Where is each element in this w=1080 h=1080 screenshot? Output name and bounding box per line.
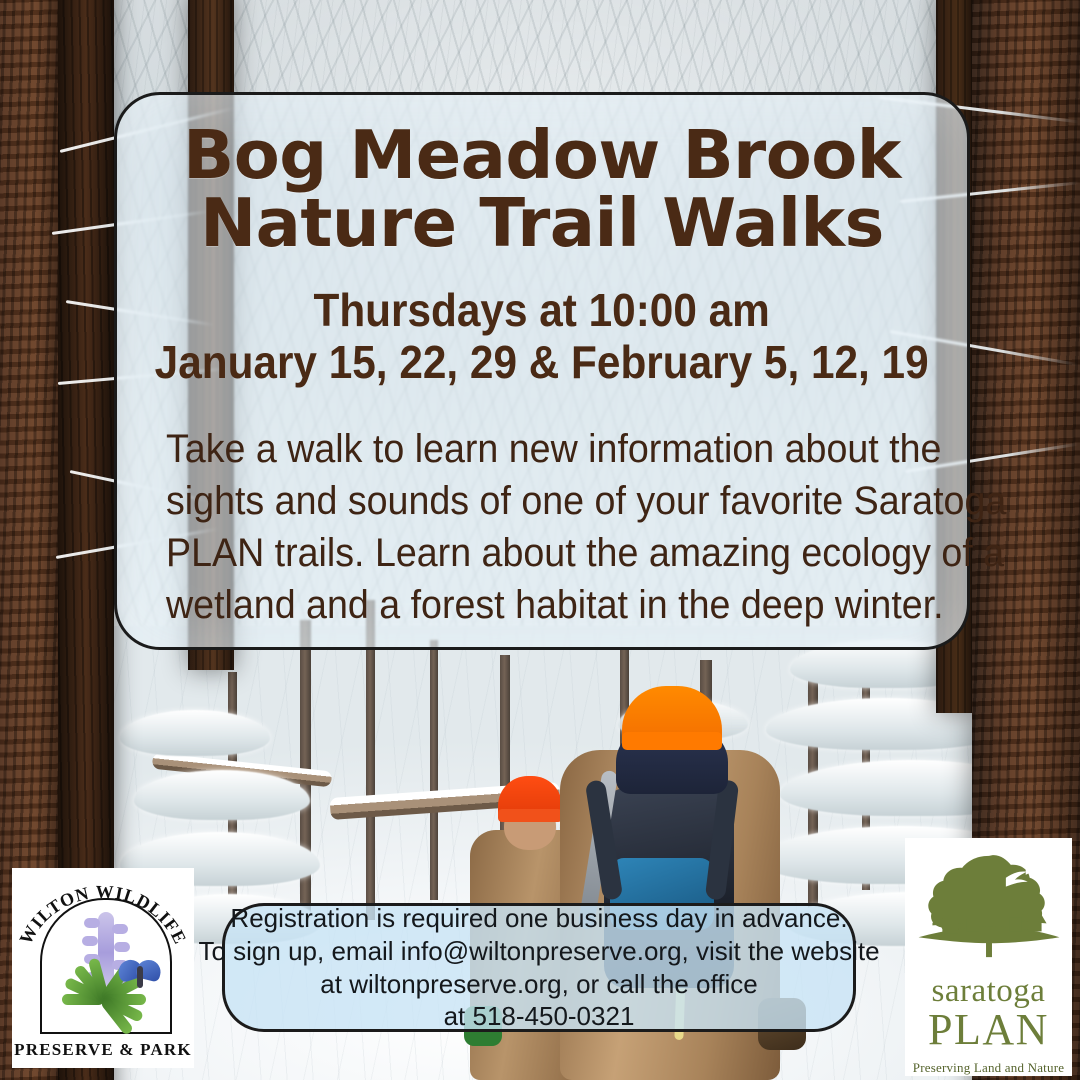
plan-logo-tagline: Preserving Land and Nature [913, 1060, 1064, 1076]
registration-line-3[interactable]: at wiltonpreserve.org, or call the offic… [320, 968, 757, 1001]
registration-line-1: Registration is required one business da… [230, 902, 847, 935]
registration-info-box: Registration is required one business da… [222, 903, 856, 1032]
description-line-2: sights and sounds of one of your favorit… [166, 475, 918, 527]
registration-line-2[interactable]: To sign up, email info@wiltonpreserve.or… [198, 935, 879, 968]
plan-logo-word-plan: PLAN [928, 1008, 1049, 1052]
wilton-bottom-label: PRESERVE & PARK [12, 1040, 194, 1060]
schedule-time: Thursdays at 10:00 am [155, 284, 929, 336]
oak-tree-icon [914, 846, 1064, 973]
plan-logo-word-saratoga: saratoga [932, 975, 1046, 1008]
event-schedule: Thursdays at 10:00 am January 15, 22, 29… [155, 284, 929, 389]
karner-blue-butterfly-icon [118, 960, 162, 994]
event-description: Take a walk to learn new information abo… [166, 423, 918, 631]
registration-line-4[interactable]: at 518-450-0321 [444, 1000, 635, 1033]
description-line-1: Take a walk to learn new information abo… [166, 423, 918, 475]
lupine-flower-icon [56, 912, 156, 1028]
title-line-2: Nature Trail Walks [183, 189, 901, 257]
event-flyer: Bog Meadow Brook Nature Trail Walks Thur… [0, 0, 1080, 1080]
description-line-3: PLAN trails. Learn about the amazing eco… [166, 527, 918, 579]
wilton-wildlife-logo: WILTON WILDLIFE [12, 868, 194, 1068]
schedule-dates: January 15, 22, 29 & February 5, 12, 19 [155, 336, 929, 388]
main-info-card: Bog Meadow Brook Nature Trail Walks Thur… [114, 92, 970, 650]
page-title: Bog Meadow Brook Nature Trail Walks [183, 121, 901, 258]
title-line-1: Bog Meadow Brook [183, 121, 901, 189]
orange-beanie-hat [622, 686, 722, 750]
saratoga-plan-logo: saratoga PLAN Preserving Land and Nature [905, 838, 1072, 1076]
description-line-4: wetland and a forest habitat in the deep… [166, 579, 918, 631]
red-beanie-hat [498, 776, 562, 822]
